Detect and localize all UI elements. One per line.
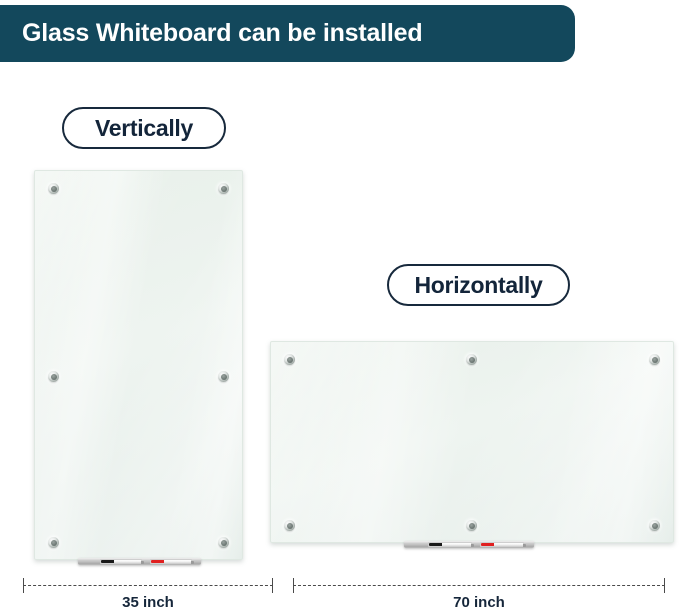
orientation-label-horizontal-text: Horizontally (414, 272, 542, 299)
mounting-screw-top-right (649, 354, 660, 365)
orientation-label-vertical: Vertically (62, 107, 226, 149)
header-banner: Glass Whiteboard can be installed (0, 5, 575, 62)
mounting-screw-bottom-left (284, 520, 295, 531)
dimension-dashed-line (293, 585, 665, 586)
marker-tip (471, 544, 474, 547)
dimension-tick-left (293, 578, 294, 593)
marker-cap-red (151, 560, 164, 563)
marker-tip (191, 561, 194, 564)
red-marker-vertical (150, 559, 192, 564)
page-title: Glass Whiteboard can be installed (0, 19, 422, 48)
red-marker-horizontal (480, 542, 524, 547)
orientation-label-vertical-text: Vertically (95, 115, 193, 142)
dimension-label-horizontal: 70 inch (293, 594, 665, 611)
infographic-canvas: Glass Whiteboard can be installed Vertic… (0, 0, 679, 611)
marker-cap-red (481, 543, 494, 546)
marker-cap-black (101, 560, 114, 563)
mounting-screw-top-left (48, 183, 59, 194)
orientation-label-horizontal: Horizontally (387, 264, 570, 306)
glass-reflection-horizontal (271, 342, 673, 542)
black-marker-horizontal (428, 542, 472, 547)
mounting-screw-middle-right (218, 371, 229, 382)
marker-tray-horizontal (404, 541, 534, 548)
glass-whiteboard-vertical (34, 170, 243, 560)
marker-tip (141, 561, 144, 564)
marker-tip (523, 544, 526, 547)
mounting-screw-top-center (466, 354, 477, 365)
dimension-dashed-line (23, 585, 273, 586)
mounting-screw-bottom-right (649, 520, 660, 531)
mounting-screw-bottom-center (466, 520, 477, 531)
glass-whiteboard-horizontal (270, 341, 674, 543)
dimension-vertical-width: 35 inch (23, 578, 273, 602)
dimension-label-vertical: 35 inch (23, 594, 273, 611)
dimension-tick-right (272, 578, 273, 593)
dimension-horizontal-width: 70 inch (293, 578, 665, 602)
mounting-screw-top-left (284, 354, 295, 365)
mounting-screw-top-right (218, 183, 229, 194)
marker-cap-black (429, 543, 442, 546)
mounting-screw-middle-left (48, 371, 59, 382)
dimension-tick-left (23, 578, 24, 593)
black-marker-vertical (100, 559, 142, 564)
mounting-screw-bottom-left (48, 537, 59, 548)
mounting-screw-bottom-right (218, 537, 229, 548)
marker-tray-vertical (78, 558, 201, 565)
dimension-tick-right (664, 578, 665, 593)
glass-reflection-vertical (35, 171, 242, 559)
